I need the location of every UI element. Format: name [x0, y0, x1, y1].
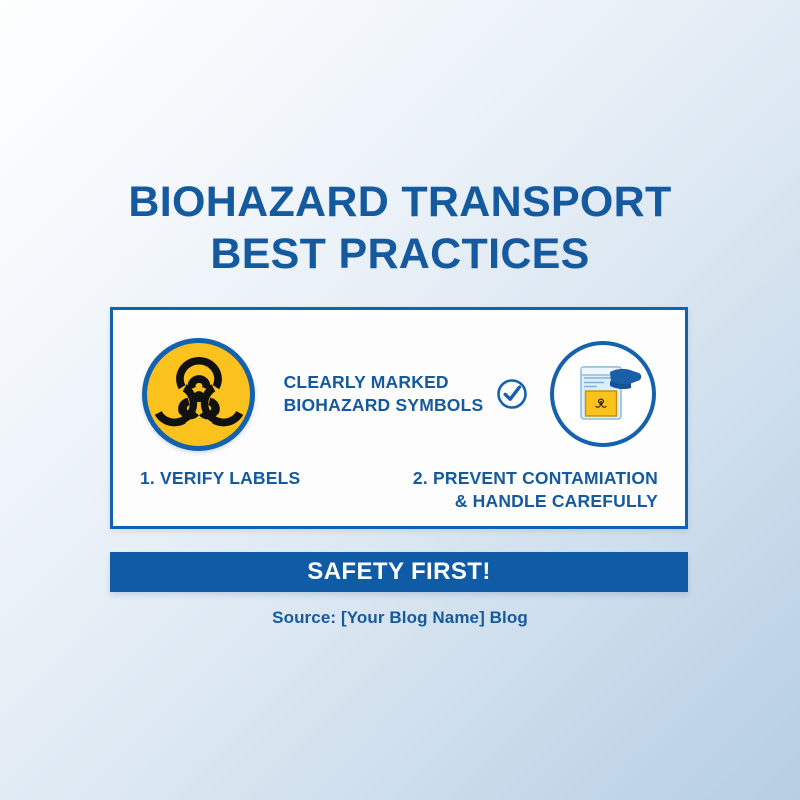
step-1-line-1: 1. VERIFY LABELS — [140, 467, 300, 490]
step-2-line-2: & HANDLE CAREFULLY — [413, 490, 658, 513]
step-2-line-1: 2. PREVENT CONTAMIATION — [413, 467, 658, 490]
page-title: BIOHAZARD TRANSPORT BEST PRACTICES — [0, 176, 800, 280]
safety-banner: SAFETY FIRST! — [110, 552, 688, 592]
infographic-poster: BIOHAZARD TRANSPORT BEST PRACTICES — [0, 0, 800, 800]
center-message-line-2: BIOHAZARD SYMBOLS — [284, 394, 484, 417]
safety-banner-label: SAFETY FIRST! — [307, 558, 490, 586]
icon-row: CLEARLY MARKED BIOHAZARD SYMBOLS — [118, 333, 680, 455]
center-message-line-1: CLEARLY MARKED — [284, 371, 484, 394]
center-message-label: CLEARLY MARKED BIOHAZARD SYMBOLS — [284, 371, 484, 417]
step-1-caption: 1. VERIFY LABELS — [140, 467, 300, 490]
content-card: CLEARLY MARKED BIOHAZARD SYMBOLS — [110, 307, 688, 529]
page-title-line-2: BEST PRACTICES — [0, 228, 800, 280]
specimen-bag-gloved-hand-icon — [550, 341, 656, 447]
step-2-caption: 2. PREVENT CONTAMIATION & HANDLE CAREFUL… — [413, 467, 658, 513]
content-card-inner: CLEARLY MARKED BIOHAZARD SYMBOLS — [117, 314, 681, 522]
steps-row: 1. VERIFY LABELS 2. PREVENT CONTAMIATION… — [118, 467, 680, 513]
biohazard-symbol-icon — [142, 338, 255, 451]
check-circle-icon — [495, 377, 529, 411]
source-line: Source: [Your Blog Name] Blog — [0, 608, 800, 628]
page-title-line-1: BIOHAZARD TRANSPORT — [0, 176, 800, 228]
center-message: CLEARLY MARKED BIOHAZARD SYMBOLS — [255, 371, 550, 417]
